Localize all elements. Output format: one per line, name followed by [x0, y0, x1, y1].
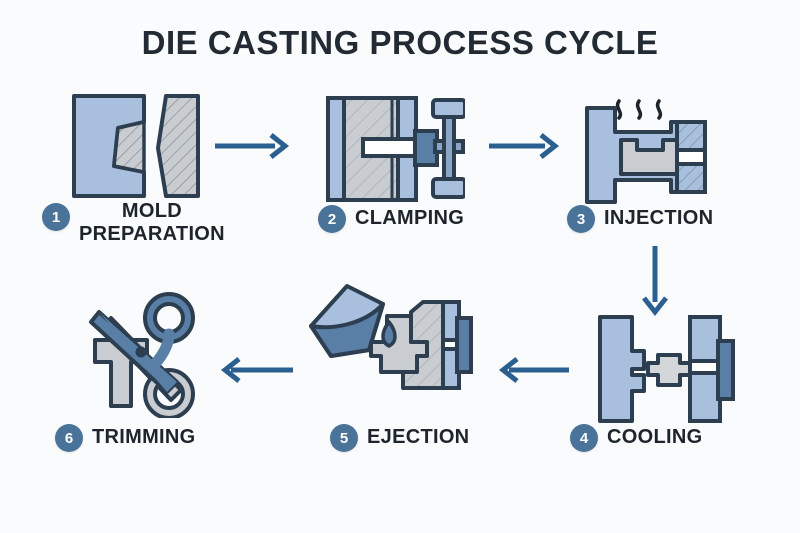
step-2-label: 2 CLAMPING [318, 205, 464, 233]
arrow-step4-to-step5 [495, 356, 571, 389]
step-3-label: 3 INJECTION [567, 205, 713, 233]
injection-icon [583, 88, 723, 211]
arrow-step2-to-step3 [487, 132, 563, 165]
cooling-icon [596, 313, 736, 430]
step-1-text: MOLD PREPARATION [79, 200, 225, 246]
step-6-label: 6 TRIMMING [55, 424, 196, 452]
clamping-icon [325, 95, 465, 208]
step-1-line2: PREPARATION [79, 223, 225, 246]
arrow-step5-to-step6 [215, 356, 295, 389]
step-4-text: COOLING [607, 426, 702, 449]
step-1-label: 1 MOLD PREPARATION [42, 203, 225, 246]
step-4-badge: 4 [570, 424, 598, 452]
step-2-text: CLAMPING [355, 207, 464, 230]
mold-preparation-icon [70, 92, 210, 207]
step-3-badge: 3 [567, 205, 595, 233]
page-title: DIE CASTING PROCESS CYCLE [0, 24, 800, 62]
step-4-label: 4 COOLING [570, 424, 702, 452]
step-6-badge: 6 [55, 424, 83, 452]
step-2-badge: 2 [318, 205, 346, 233]
step-1-line1: MOLD [79, 200, 225, 223]
step-5-text: EJECTION [367, 426, 469, 449]
step-5-badge: 5 [330, 424, 358, 452]
step-1-badge: 1 [42, 203, 70, 231]
step-3-text: INJECTION [604, 207, 713, 230]
step-5-label: 5 EJECTION [330, 424, 469, 452]
ejection-icon [305, 280, 475, 420]
step-6-text: TRIMMING [92, 426, 196, 449]
heat-wave-lines [618, 101, 661, 118]
trimming-icon [85, 288, 200, 423]
diagram-canvas: DIE CASTING PROCESS CYCLE 1 MOLD PREPARA… [0, 0, 800, 533]
arrow-step1-to-step2 [213, 132, 293, 165]
